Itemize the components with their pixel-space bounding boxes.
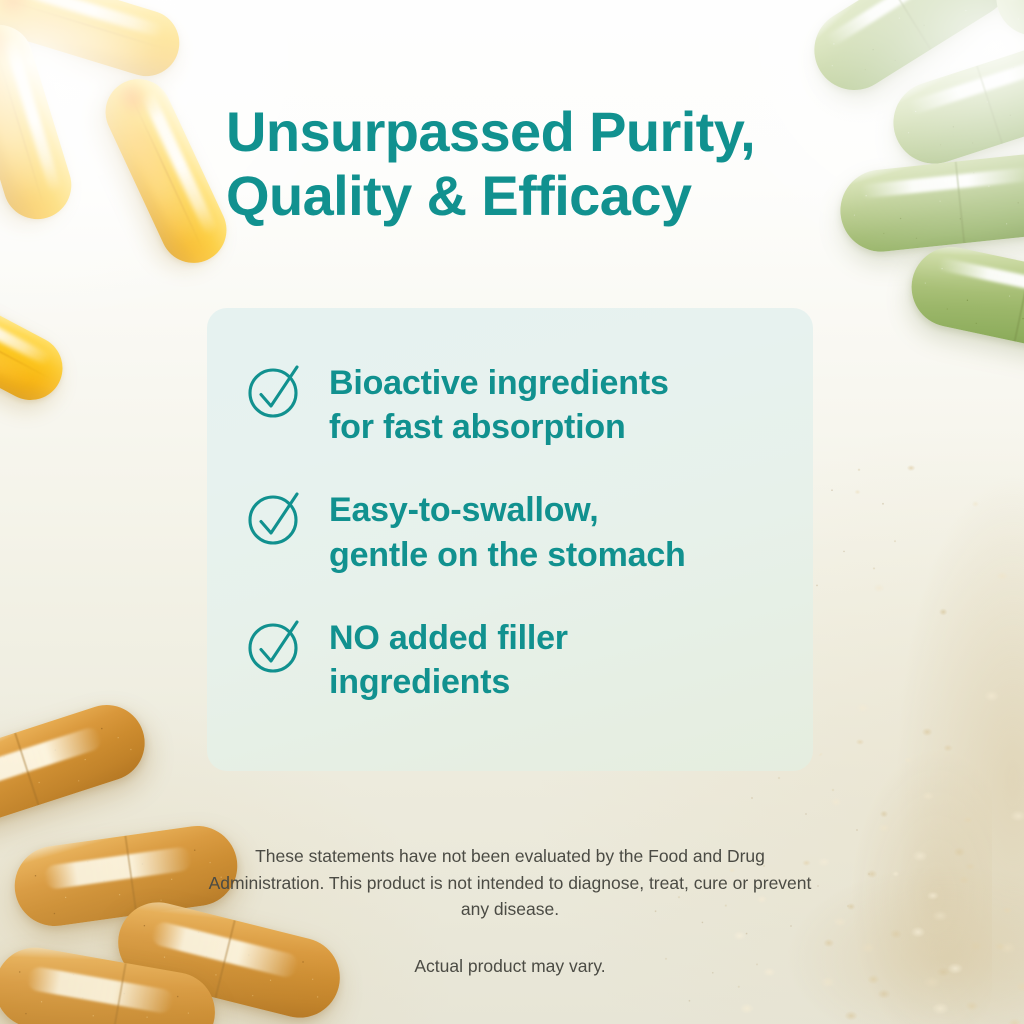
benefits-card: Bioactive ingredients for fast absorptio… <box>207 308 813 771</box>
promo-image: Unsurpassed Purity, Quality & Efficacy B… <box>0 0 1024 1024</box>
green-capsule <box>981 0 1024 51</box>
green-capsule <box>904 240 1024 365</box>
list-item-label: Bioactive ingredients for fast absorptio… <box>329 358 669 449</box>
fda-disclaimer-text: These statements have not been evaluated… <box>200 843 820 923</box>
list-item: Easy-to-swallow, gentle on the stomach <box>244 485 787 576</box>
list-item: NO added filler ingredients <box>244 613 787 704</box>
headline-line-1: Unsurpassed Purity, <box>226 100 755 163</box>
list-item-label: NO added filler ingredients <box>329 613 568 704</box>
top-left-softgel-cluster <box>0 0 240 430</box>
page-title: Unsurpassed Purity, Quality & Efficacy <box>226 100 846 228</box>
headline-line-2: Quality & Efficacy <box>226 164 846 228</box>
softgel-capsule <box>0 273 74 412</box>
product-variance-text: Actual product may vary. <box>200 953 820 980</box>
check-circle-icon <box>244 487 306 549</box>
disclaimer: These statements have not been evaluated… <box>200 843 820 979</box>
green-capsule <box>836 150 1024 255</box>
check-circle-icon <box>244 360 306 422</box>
list-item-label: Easy-to-swallow, gentle on the stomach <box>329 485 686 576</box>
check-circle-icon <box>244 615 306 677</box>
softgel-capsule <box>95 68 238 274</box>
list-item: Bioactive ingredients for fast absorptio… <box>244 358 787 449</box>
benefits-list: Bioactive ingredients for fast absorptio… <box>244 358 787 704</box>
